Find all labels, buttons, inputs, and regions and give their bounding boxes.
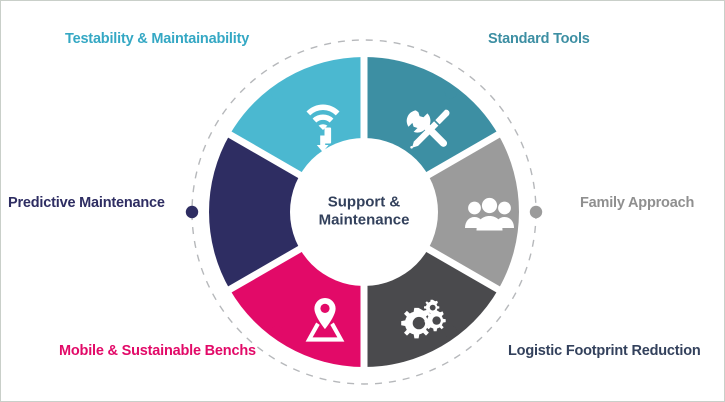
connector-dot-family-approach[interactable] [530, 206, 542, 218]
label-logistic-footprint-reduction[interactable]: Logistic Footprint Reduction [508, 344, 701, 360]
label-family-approach[interactable]: Family Approach [580, 196, 694, 212]
connector-dot-predictive-maintenance[interactable] [186, 206, 198, 218]
label-standard-tools[interactable]: Standard Tools [488, 32, 590, 48]
connector-dot-logistic-footprint[interactable] [445, 326, 457, 338]
support-maintenance-wheel: Support & Maintenance [184, 32, 544, 392]
diagram-canvas: Support & Maintenance Testability & Main… [0, 0, 725, 402]
connector-dot-mobile-benches[interactable] [271, 326, 283, 338]
connector-dot-testability[interactable] [271, 86, 283, 98]
center-hub [290, 138, 438, 286]
label-mobile-sustainable-benchs[interactable]: Mobile & Sustainable Benchs [59, 344, 256, 360]
sliders-icon [308, 195, 348, 231]
label-predictive-maintenance[interactable]: Predictive Maintenance [8, 196, 165, 212]
wheel-svg [184, 32, 544, 392]
label-testability-maintainability[interactable]: Testability & Maintainability [65, 32, 249, 48]
connector-dot-standard-tools[interactable] [445, 86, 457, 98]
